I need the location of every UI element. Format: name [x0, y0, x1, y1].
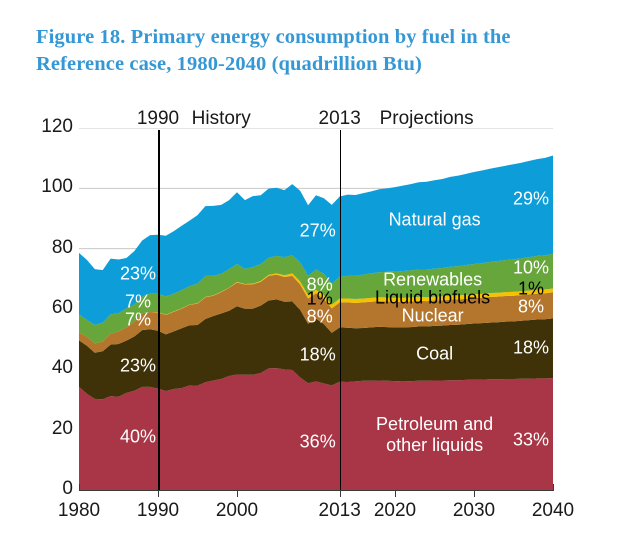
label-natural-gas-2013: 27% — [300, 220, 336, 241]
x-tick-mark-2000 — [237, 490, 238, 497]
label-petroleum-name: Petroleum and other liquids — [370, 414, 500, 456]
x-tick-mark-2030 — [474, 490, 475, 497]
label-petroleum-2040: 33% — [513, 430, 549, 451]
x-tick-label-2040: 2040 — [532, 500, 574, 522]
y-tick-label-60: 60 — [27, 297, 73, 319]
x-tick-mark-2013 — [340, 490, 341, 497]
label-renewables-2040: 10% — [513, 258, 549, 279]
x-tick-label-2000: 2000 — [216, 500, 258, 522]
figure-container: Figure 18. Primary energy consumption by… — [0, 0, 623, 553]
label-coal-2013: 18% — [300, 344, 336, 365]
y-tick-label-100: 100 — [27, 176, 73, 198]
label-coal-name: Coal — [416, 343, 453, 364]
y-tick-label-40: 40 — [27, 357, 73, 379]
label-coal-2040: 18% — [513, 338, 549, 359]
x-tick-mark-1990 — [158, 490, 159, 497]
divider-line-2013 — [340, 130, 342, 490]
x-axis-left-cap — [79, 484, 80, 491]
x-tick-label-2030: 2030 — [453, 500, 495, 522]
page-title: Figure 18. Primary energy consumption by… — [36, 24, 596, 78]
label-coal-1990: 23% — [120, 355, 156, 376]
y-tick-label-20: 20 — [27, 418, 73, 440]
title-line-1: Figure 18. Primary energy consumption by… — [36, 24, 596, 51]
x-axis-right-cap — [553, 484, 554, 491]
x-axis: 1980199020002013202020302040 — [0, 492, 623, 522]
x-tick-label-1990: 1990 — [137, 500, 179, 522]
label-nuclear-2013: 8% — [307, 306, 333, 327]
title-line-2: Reference case, 1980-2040 (quadrillion B… — [36, 51, 596, 78]
y-tick-label-80: 80 — [27, 237, 73, 259]
label-natural-gas-2040: 29% — [513, 188, 549, 209]
label-nuclear-2040: 8% — [518, 297, 544, 318]
year-1990-marker: 1990 — [137, 108, 179, 130]
x-tick-mark-2020 — [395, 490, 396, 497]
divider-line-1990 — [158, 130, 160, 490]
label-nuclear-name: Nuclear — [402, 305, 464, 326]
label-natural-gas-name: Natural gas — [389, 209, 481, 230]
year-2013-marker: 2013 — [319, 108, 361, 130]
x-axis-line — [79, 490, 554, 491]
x-tick-label-2020: 2020 — [374, 500, 416, 522]
y-axis: 020406080100120 — [18, 128, 73, 490]
label-petroleum-2013: 36% — [300, 431, 336, 452]
x-tick-label-1980: 1980 — [58, 500, 100, 522]
y-tick-label-120: 120 — [27, 116, 73, 138]
label-nuclear-1990: 7% — [125, 309, 151, 330]
history-label: History — [192, 108, 251, 130]
label-natural-gas-1990: 23% — [120, 264, 156, 285]
x-tick-label-2013: 2013 — [319, 500, 361, 522]
projections-label: Projections — [380, 108, 474, 130]
label-petroleum-1990: 40% — [120, 427, 156, 448]
